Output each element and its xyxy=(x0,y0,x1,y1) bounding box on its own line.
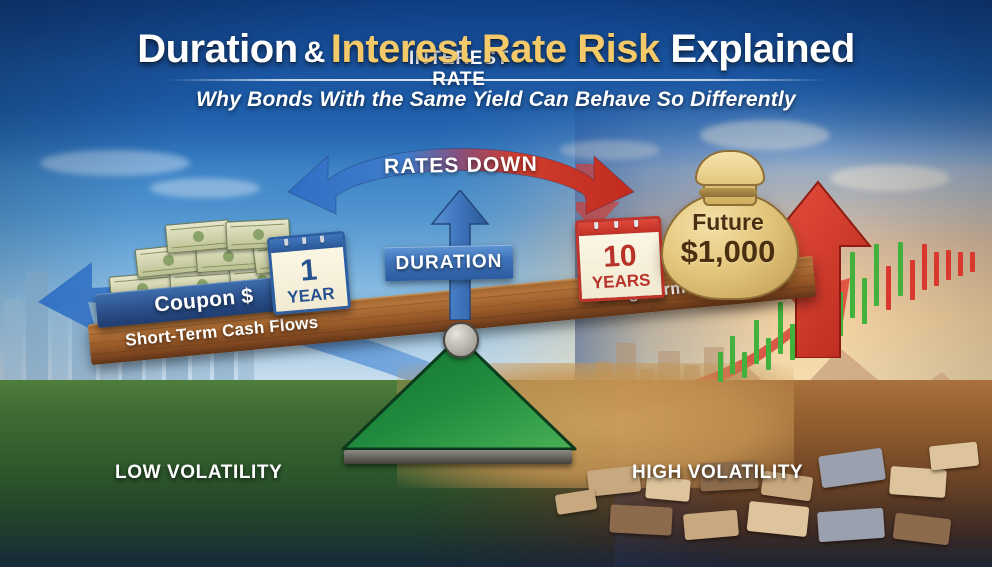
title-part-interest-rate-risk: Interest Rate Risk xyxy=(331,27,660,71)
infographic-canvas: RATES DOWN DURATION INTEREST RATE xyxy=(0,0,992,567)
money-bag-icon: Future $1,000 xyxy=(655,148,801,296)
calendar-unit-left: YEAR xyxy=(287,284,336,305)
calendar-number-right: 10 xyxy=(602,241,637,273)
pivot-bolt xyxy=(443,322,479,358)
money-bag-top xyxy=(695,150,765,186)
rock xyxy=(747,501,810,537)
duration-band: DURATION xyxy=(385,245,514,282)
low-volatility-label: LOW VOLATILITY xyxy=(115,462,282,484)
money-bag-tie xyxy=(699,188,757,197)
high-volatility-label: HIGH VOLATILITY xyxy=(632,462,803,484)
calendar-icon-10-years: 10 YEARS xyxy=(575,216,665,302)
rock xyxy=(889,466,947,498)
calendar-number-left: 1 xyxy=(299,255,318,286)
rock xyxy=(929,442,979,471)
title-ampersand: & xyxy=(304,36,325,69)
calendar-icon-1-year: 1 YEAR xyxy=(267,231,352,316)
bag-label-future: Future xyxy=(655,210,801,234)
header: Duration&Interest Rate Risk Explained Wh… xyxy=(0,28,992,112)
duration-label: DURATION xyxy=(395,251,502,275)
page-title: Duration&Interest Rate Risk Explained xyxy=(0,28,992,70)
rock xyxy=(609,504,672,535)
fulcrum-base xyxy=(344,450,572,464)
rock xyxy=(683,510,739,541)
rates-down-arc: RATES DOWN xyxy=(286,140,636,220)
calendar-unit-right: YEARS xyxy=(591,271,650,291)
coupon-label: Coupon $ xyxy=(153,284,254,317)
title-part-explained: Explained xyxy=(670,27,854,71)
rock xyxy=(817,508,885,543)
title-part-duration: Duration xyxy=(137,27,297,71)
page-subtitle: Why Bonds With the Same Yield Can Behave… xyxy=(0,88,992,112)
money-bag-text: Future $1,000 xyxy=(655,210,801,269)
title-divider xyxy=(166,79,826,81)
bag-label-amount: $1,000 xyxy=(655,236,801,269)
